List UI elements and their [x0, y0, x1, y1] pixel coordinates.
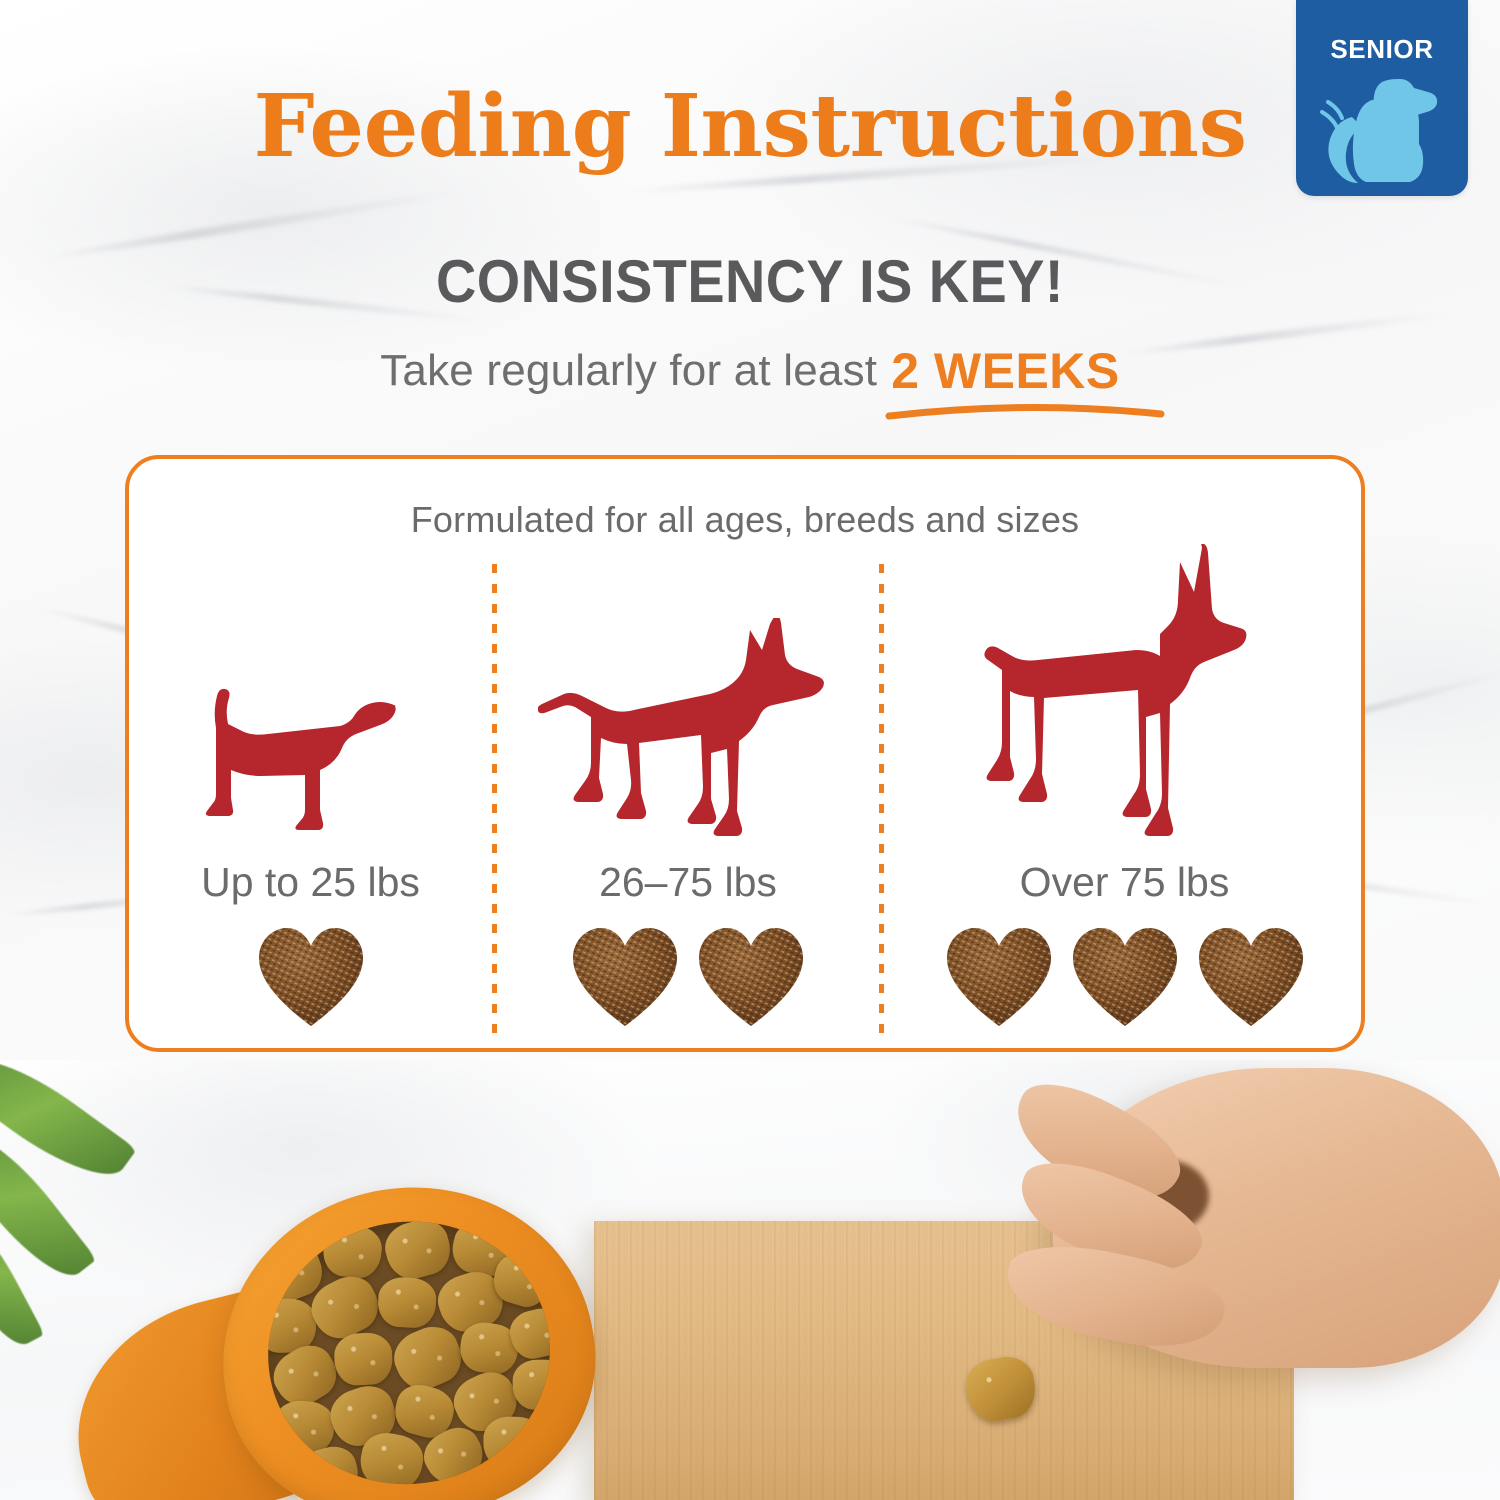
underline-swoosh-icon [885, 398, 1165, 420]
dog-illustration-slot [129, 519, 492, 854]
kibble-heart-icon [1195, 924, 1307, 1032]
kibble-heart-icon [695, 924, 807, 1032]
bowl-interior [249, 1201, 569, 1500]
size-column-medium: 26–75 lbs [497, 519, 879, 1048]
size-label: Over 75 lbs [884, 859, 1365, 906]
tagline: Take regularly for at least2 WEEKS [0, 346, 1500, 396]
large-dog-silhouette-icon [980, 544, 1270, 854]
dog-illustration-slot [497, 519, 879, 854]
kibble-count-row [129, 924, 492, 1032]
kibble-heart-icon [569, 924, 681, 1032]
kibble-heart-icon [255, 924, 367, 1032]
held-kibble-icon [962, 1353, 1040, 1426]
size-label: 26–75 lbs [497, 859, 879, 906]
medium-dog-silhouette-icon [538, 618, 838, 854]
feeding-chart-card: Formulated for all ages, breeds and size… [125, 455, 1365, 1052]
subheading: CONSISTENCY IS KEY! [53, 252, 1448, 312]
infographic-page: SENIOR Feeding Instructions CO [0, 0, 1500, 1500]
page-title: Feeding Instructions [0, 84, 1500, 170]
dog-illustration-slot [884, 519, 1365, 854]
kibble-heart-icon [943, 924, 1055, 1032]
tagline-accent: 2 WEEKS [891, 343, 1120, 399]
tagline-accent-wrapper: 2 WEEKS [891, 346, 1120, 396]
small-dog-silhouette-icon [200, 676, 422, 854]
tagline-prefix: Take regularly for at least [380, 346, 877, 395]
senior-badge-label: SENIOR [1296, 34, 1468, 65]
kibble-heart-icon [1069, 924, 1181, 1032]
size-column-small: Up to 25 lbs [129, 519, 492, 1048]
kibble-count-row [884, 924, 1365, 1032]
kibble-count-row [497, 924, 879, 1032]
size-column-large: Over 75 lbs [884, 519, 1365, 1048]
size-label: Up to 25 lbs [129, 859, 492, 906]
hand-holding-kibble [945, 1068, 1500, 1458]
lifestyle-photo [0, 1060, 1500, 1500]
